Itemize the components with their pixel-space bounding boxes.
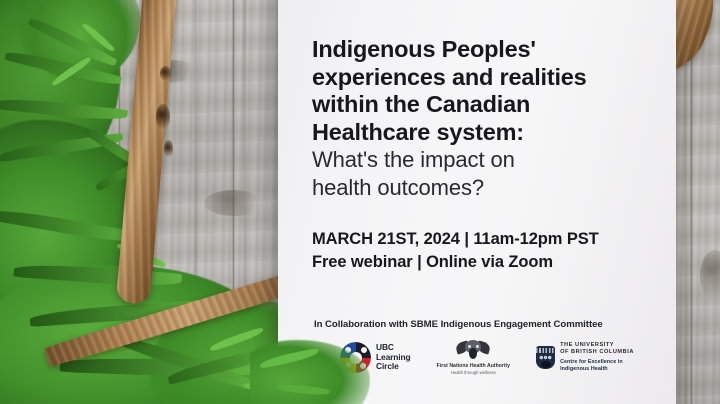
ubc-line-1: THE UNIVERSITY [560,343,634,349]
title-line-4: Healthcare system: [312,119,524,145]
wood-plank-seam [690,0,693,404]
ubc-line-3: Centre for Excellence in [560,360,634,365]
event-date-time: MARCH 21ST, 2024 | 11am-12pm PST [312,230,599,248]
webinar-poster: Indigenous Peoples' experiences and real… [0,0,720,404]
wood-knot [204,190,264,216]
title-line-2: experiences and realities [312,64,587,90]
ubc-line-2: OF BRITISH COLUMBIA [560,350,634,356]
ubc-shield-icon [536,346,555,369]
fnha-name: First Nations Health Authority [437,363,510,369]
fnha-text: First Nations Health Authority Health th… [437,363,510,375]
logo-ubc-centre-excellence: THE UNIVERSITY OF BRITISH COLUMBIA Centr… [536,343,634,372]
lc-line-3: Circle [376,362,411,372]
event-details: MARCH 21ST, 2024 | 11am-12pm PST Free we… [312,228,656,274]
collaboration-note: In Collaboration with SBME Indigenous En… [314,319,603,330]
page-subtitle: What's the impact on health outcomes? [312,146,656,202]
fnha-eagle-icon [456,340,490,361]
page-title: Indigenous Peoples' experiences and real… [312,36,656,146]
subtitle-line-2: health outcomes? [312,175,484,200]
logo-first-nations-health-authority: First Nations Health Authority Health th… [437,340,510,375]
ubc-centre-text: THE UNIVERSITY OF BRITISH COLUMBIA Centr… [560,343,634,372]
fnha-tagline: Health through wellness [437,370,510,375]
branch-knot [164,140,173,158]
ubc-learning-circle-text: UBC Learning Circle [376,343,411,372]
event-format: Free webinar | Online via Zoom [312,253,553,271]
logo-row: UBC Learning Circle First Nations Health… [340,340,634,375]
cedar-foliage-overlap [250,330,370,404]
branch-knot [156,104,170,130]
title-line-1: Indigenous Peoples' [312,36,536,62]
branch-knot [160,66,171,81]
ubc-line-4: Indigenous Health [560,367,634,372]
title-line-3: within the Canadian [312,91,530,117]
subtitle-line-1: What's the impact on [312,147,515,172]
